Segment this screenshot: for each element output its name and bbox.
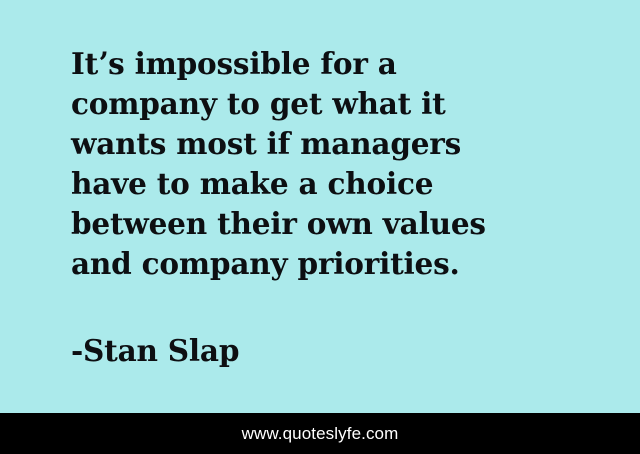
- quote-author: -Stan Slap: [71, 331, 239, 371]
- quote-text: Itʼs impossible for a company to get wha…: [71, 44, 591, 284]
- quote-content: Itʼs impossible for a company to get wha…: [71, 44, 591, 284]
- footer-bar: www.quoteslyfe.com: [0, 413, 640, 454]
- footer-website-url[interactable]: www.quoteslyfe.com: [242, 424, 399, 444]
- quote-card: Itʼs impossible for a company to get wha…: [0, 0, 640, 454]
